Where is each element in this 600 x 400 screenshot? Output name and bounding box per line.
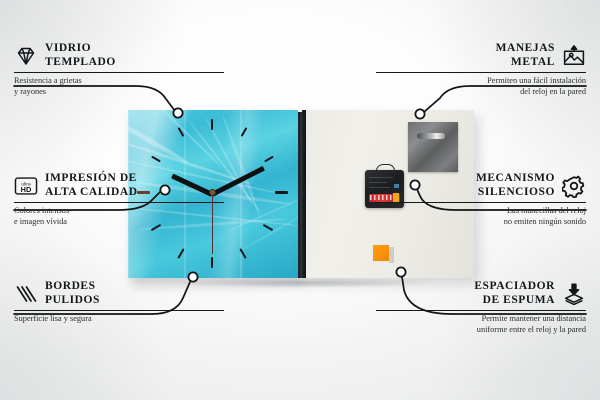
diamond-icon bbox=[14, 44, 38, 68]
feature-desc-line2: del reloj en la pared bbox=[376, 87, 586, 98]
foam-spacer bbox=[373, 245, 389, 261]
foam-spacer-side bbox=[389, 247, 394, 263]
clock-tick bbox=[211, 257, 213, 268]
feature-rule bbox=[376, 310, 586, 311]
feature-title-line2: METAL bbox=[496, 56, 555, 70]
gear-icon bbox=[562, 174, 586, 198]
feature-desc-line1: Superficie lisa y segura bbox=[14, 314, 224, 325]
feature-title-line1: VIDRIO bbox=[45, 42, 116, 56]
feature-rule bbox=[376, 202, 586, 203]
feature-rule bbox=[376, 72, 586, 73]
feature-desc-line2: uniforme entre el reloj y la pared bbox=[376, 325, 586, 336]
feature-title-line1: BORDES bbox=[45, 280, 100, 294]
feature-desc-line2: no emiten ningún sonido bbox=[376, 217, 586, 228]
svg-text:HD: HD bbox=[21, 184, 32, 193]
feature-desc-line1: Permiten una fácil instalación bbox=[376, 76, 586, 87]
feature-title-line1: IMPRESIÓN DE bbox=[45, 172, 138, 186]
feature-desc-line1: Resistencia a grietas bbox=[14, 76, 224, 87]
feature-title-line2: DE ESPUMA bbox=[474, 294, 555, 308]
clock-tick bbox=[211, 119, 213, 130]
clock-tick bbox=[275, 191, 288, 194]
feature-title-line1: ESPACIADOR bbox=[474, 280, 555, 294]
feature-desc-line1: Colores intensos bbox=[14, 206, 224, 217]
feature-title-line2: ALTA CALIDAD bbox=[45, 186, 138, 200]
hanger-keyhole-slot bbox=[417, 133, 445, 139]
feature-title-line2: TEMPLADO bbox=[45, 56, 116, 70]
feature-desc-line1: Las manecillas del reloj bbox=[376, 206, 586, 217]
feature-manejas-metal: MANEJAS METAL Permiten una fácil instala… bbox=[376, 42, 586, 97]
feature-desc-line2: e imagen vívida bbox=[14, 217, 224, 228]
feature-rule bbox=[14, 202, 224, 203]
feature-title-line2: SILENCIOSO bbox=[476, 186, 555, 200]
feature-rule bbox=[14, 310, 224, 311]
foam-spacer-icon bbox=[562, 282, 586, 306]
feature-desc-line2: y rayones bbox=[14, 87, 224, 98]
feature-title-line1: MANEJAS bbox=[496, 42, 555, 56]
picture-hanger-icon bbox=[562, 44, 586, 68]
feature-vidrio-templado: VIDRIO TEMPLADO Resistencia a grietas y … bbox=[14, 42, 224, 97]
feature-title-line2: PULIDOS bbox=[45, 294, 100, 308]
feature-impresion-alta-calidad: ultra HD IMPRESIÓN DE ALTA CALIDAD Color… bbox=[14, 172, 224, 227]
ultra-hd-icon: ultra HD bbox=[14, 174, 38, 198]
feature-desc-line1: Permite mantener una distancia bbox=[376, 314, 586, 325]
feature-mecanismo-silencioso: MECANISMO SILENCIOSO Las manecillas del … bbox=[376, 172, 586, 227]
polished-edges-icon bbox=[14, 282, 38, 306]
feature-title-line1: MECANISMO bbox=[476, 172, 555, 186]
feature-rule bbox=[14, 72, 224, 73]
metal-hanger-plate bbox=[408, 122, 458, 172]
infographic-canvas: VIDRIO TEMPLADO Resistencia a grietas y … bbox=[0, 0, 600, 400]
feature-bordes-pulidos: BORDES PULIDOS Superficie lisa y segura bbox=[14, 280, 224, 325]
panel-seam bbox=[302, 110, 306, 278]
feature-espaciador-espuma: ESPACIADOR DE ESPUMA Permite mantener un… bbox=[376, 280, 586, 335]
